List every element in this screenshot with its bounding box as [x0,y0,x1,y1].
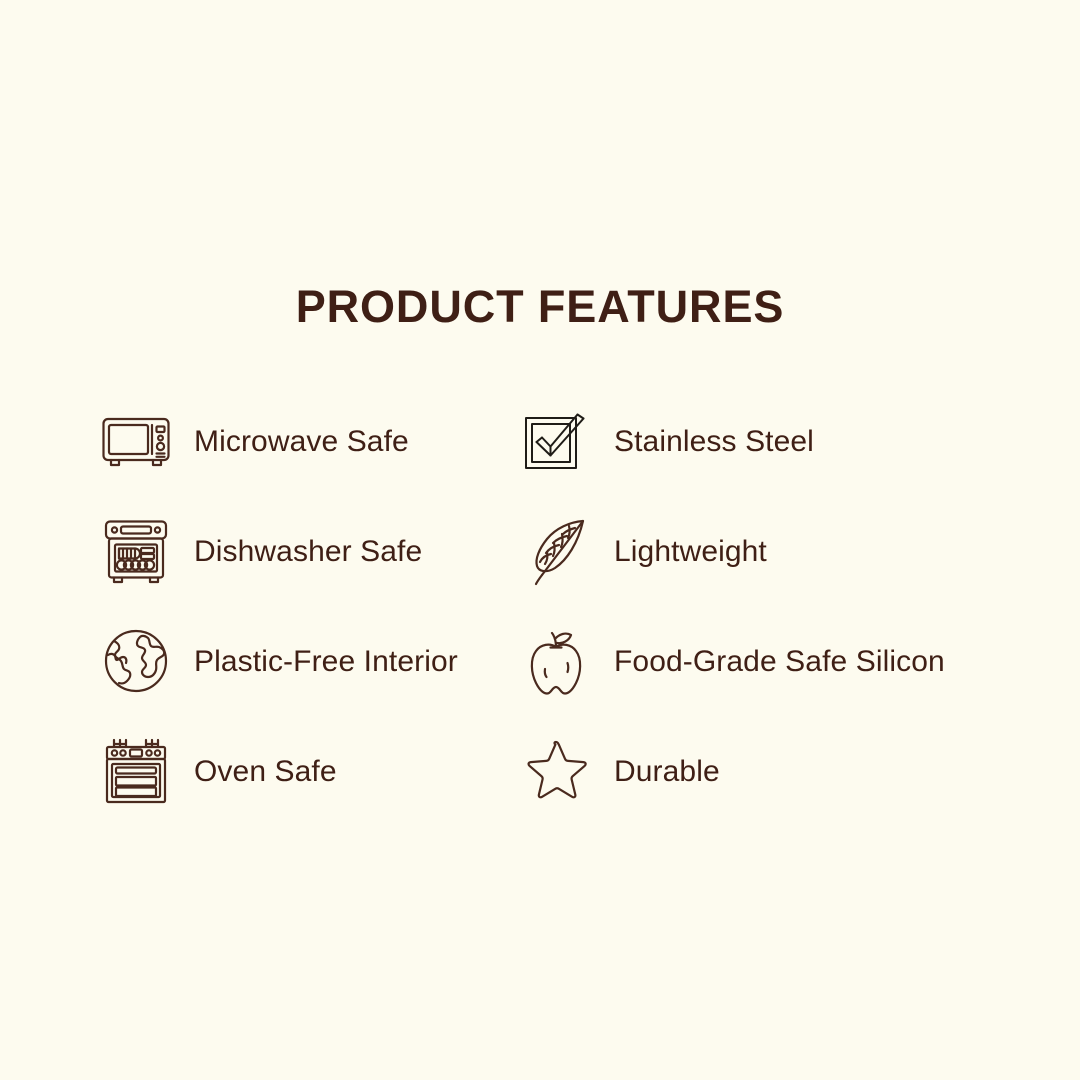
feature-item-plastic-free-interior: Plastic-Free Interior [100,606,520,716]
feature-label: Lightweight [614,535,767,568]
star-icon [520,735,592,807]
apple-icon [520,625,592,697]
feature-item-food-grade-safe-silicon: Food-Grade Safe Silicon [520,606,960,716]
features-grid: Microwave Safe Stainless Steel [100,386,1000,826]
feature-item-microwave-safe: Microwave Safe [100,386,520,496]
feature-item-durable: Durable [520,716,960,826]
feature-label: Stainless Steel [614,425,814,458]
feature-label: Durable [614,755,720,788]
feature-label: Plastic-Free Interior [194,645,458,678]
page-title: PRODUCT FEATURES [0,284,1080,329]
feature-label: Oven Safe [194,755,337,788]
globe-icon [100,625,172,697]
feature-item-dishwasher-safe: Dishwasher Safe [100,496,520,606]
dishwasher-icon [100,515,172,587]
feature-label: Dishwasher Safe [194,535,422,568]
checkbox-check-icon [520,405,592,477]
feature-item-stainless-steel: Stainless Steel [520,386,960,496]
feather-icon [520,515,592,587]
product-features-page: PRODUCT FEATURES Microwave Safe [0,0,1080,1080]
feature-item-oven-safe: Oven Safe [100,716,520,826]
oven-icon [100,735,172,807]
feature-item-lightweight: Lightweight [520,496,960,606]
feature-label: Food-Grade Safe Silicon [614,645,945,678]
microwave-icon [100,405,172,477]
feature-label: Microwave Safe [194,425,409,458]
